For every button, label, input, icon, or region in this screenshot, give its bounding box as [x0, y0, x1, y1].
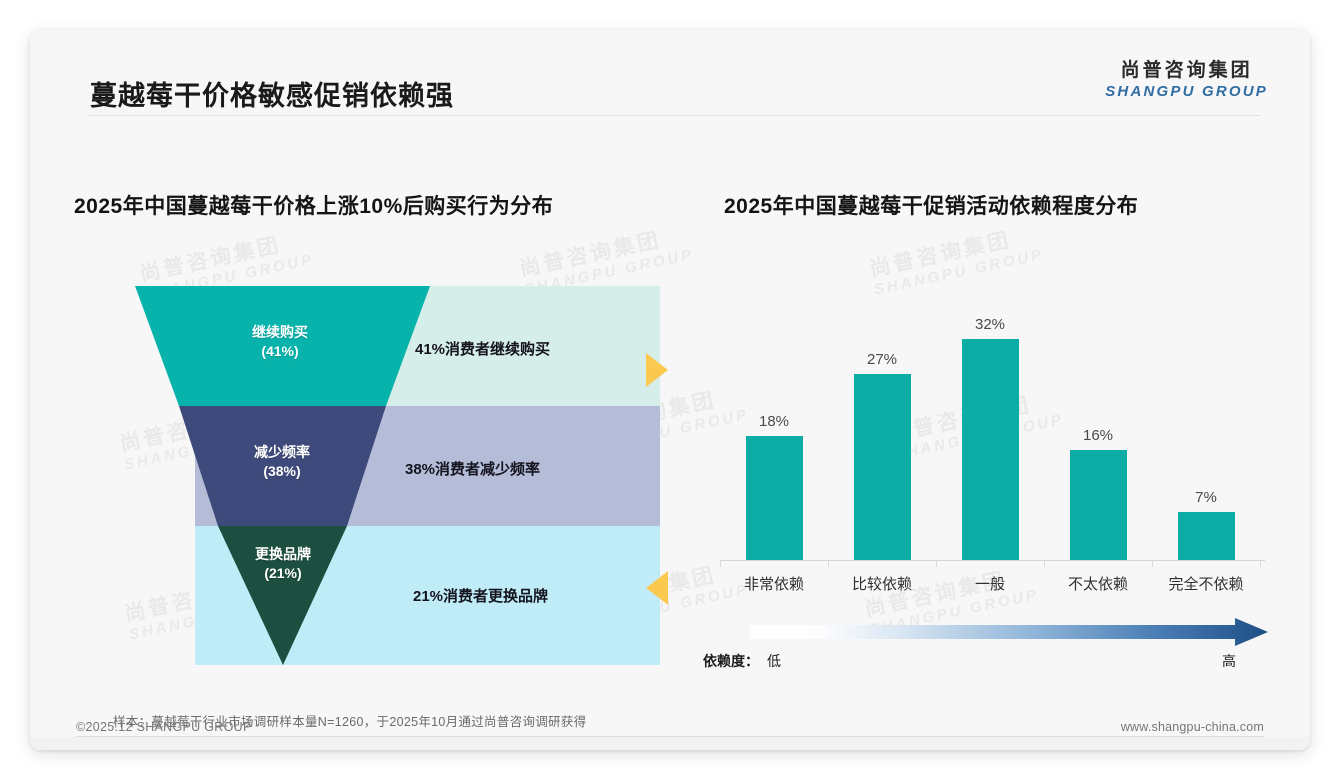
- funnel-stage-label-2: 减少频率 (38%): [202, 443, 362, 481]
- bar-rect[interactable]: [962, 339, 1019, 560]
- bar-column[interactable]: 7%: [1152, 489, 1260, 560]
- bar-category-label: 比较依赖: [828, 573, 936, 594]
- funnel-stage-label-3: 更换品牌 (21%): [203, 545, 363, 583]
- funnel-chart: 继续购买 (41%) 减少频率 (38%) 更换品牌 (21%) 41%消费者继…: [90, 255, 660, 670]
- legend-low-label: 低: [767, 651, 781, 671]
- header-divider: [88, 115, 1260, 116]
- funnel-stage-value-2: (38%): [202, 462, 362, 481]
- axis-tick: [828, 560, 829, 567]
- bar-value-label: 18%: [720, 413, 828, 430]
- bar-value-label: 32%: [936, 316, 1044, 333]
- funnel-stage-name-1: 继续购买: [200, 323, 360, 342]
- triangle-right-icon: [646, 353, 668, 387]
- legend-title: 依赖度：: [703, 651, 759, 671]
- slide-header: 蔓越莓干价格敏感促销依赖强 尚普咨询集团 SHANGPU GROUP: [30, 30, 1310, 116]
- axis-tick: [936, 560, 937, 567]
- bar-category-label: 一般: [936, 573, 1044, 594]
- slide-canvas: 尚普咨询集团 SHANGPU GROUP 尚普咨询集团 SHANGPU GROU…: [30, 30, 1310, 750]
- dependency-gradient-legend: 依赖度： 低 高: [695, 618, 1275, 680]
- axis-tick: [1152, 560, 1153, 567]
- triangle-left-icon: [646, 571, 668, 605]
- bar-column[interactable]: 16%: [1044, 427, 1152, 560]
- footer-copyright: ©2025.12 SHANGPU GROUP: [76, 720, 252, 734]
- logo-text-cn: 尚普咨询集团: [1105, 60, 1268, 83]
- bar-value-label: 27%: [828, 351, 936, 368]
- bar-rect[interactable]: [746, 436, 803, 560]
- footer-website[interactable]: www.shangpu-china.com: [1121, 720, 1264, 734]
- axis-tick: [1044, 560, 1045, 567]
- funnel-band-label-1: 41%消费者继续购买: [415, 338, 550, 359]
- funnel-stage-value-3: (21%): [203, 564, 363, 583]
- funnel-band-label-2: 38%消费者减少频率: [405, 458, 540, 479]
- page-title: 蔓越莓干价格敏感促销依赖强: [90, 74, 454, 113]
- bar-value-label: 7%: [1152, 489, 1260, 506]
- funnel-band-label-3: 21%消费者更换品牌: [413, 585, 548, 606]
- footer-divider: [76, 736, 1264, 737]
- logo-text-en: SHANGPU GROUP: [1105, 83, 1268, 101]
- axis-tick: [720, 560, 721, 567]
- bar-axis-line: [720, 560, 1265, 561]
- funnel-stage-name-2: 减少频率: [202, 443, 362, 462]
- bar-category-label: 不太依赖: [1044, 573, 1152, 594]
- funnel-stage-name-3: 更换品牌: [203, 545, 363, 564]
- bar-column[interactable]: 27%: [828, 351, 936, 560]
- bar-category-label: 非常依赖: [720, 573, 828, 594]
- bar-rect[interactable]: [1178, 512, 1235, 560]
- funnel-stage-label-1: 继续购买 (41%): [200, 323, 360, 361]
- bar-category-label: 完全不依赖: [1152, 573, 1260, 594]
- bar-value-label: 16%: [1044, 427, 1152, 444]
- bar-rect[interactable]: [1070, 450, 1127, 560]
- bar-rect[interactable]: [854, 374, 911, 560]
- brand-logo: 尚普咨询集团 SHANGPU GROUP: [1105, 60, 1268, 101]
- bar-chart: 18% 27% 32% 16% 7% 非常依赖 比较依赖 一般 不太依赖 完全不…: [695, 255, 1275, 585]
- footer-band: [30, 737, 1310, 750]
- left-chart-title: 2025年中国蔓越莓干价格上涨10%后购买行为分布: [74, 190, 553, 220]
- bar-column[interactable]: 18%: [720, 413, 828, 560]
- legend-high-label: 高: [1222, 651, 1236, 671]
- gradient-arrow-icon: [695, 618, 1275, 652]
- bar-column[interactable]: 32%: [936, 316, 1044, 560]
- funnel-stage-value-1: (41%): [200, 342, 360, 361]
- right-chart-title: 2025年中国蔓越莓干促销活动依赖程度分布: [724, 190, 1138, 220]
- axis-tick: [1260, 560, 1261, 567]
